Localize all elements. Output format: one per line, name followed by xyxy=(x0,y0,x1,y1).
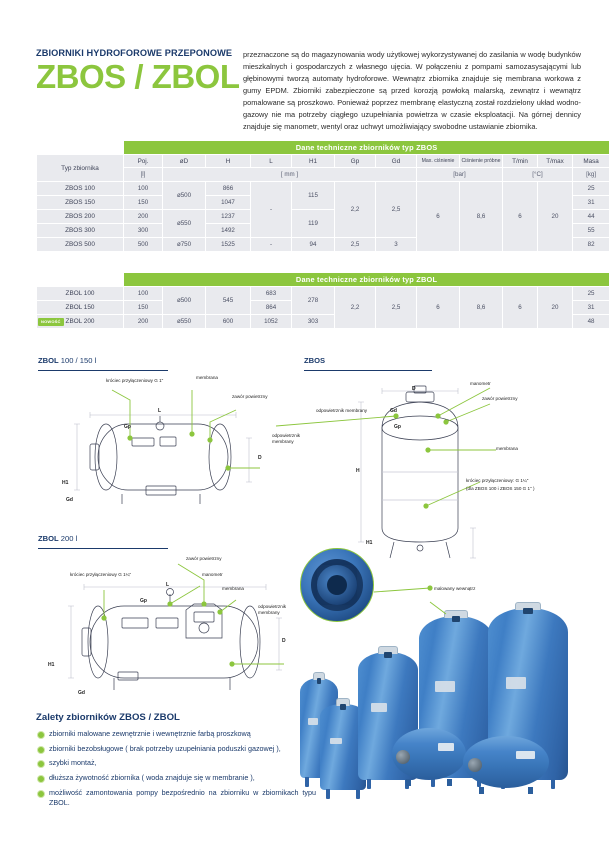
cell-gd: 3 xyxy=(376,238,416,251)
callout-zbol-large-vent: odpowietrznik membrany xyxy=(258,604,298,616)
cell-poj: 300 xyxy=(124,224,162,237)
unit-mm: [ mm ] xyxy=(163,168,416,181)
cell-poj: 200 xyxy=(124,210,162,223)
diagram-rule-zbol-small xyxy=(38,370,168,371)
cell-masa: 31 xyxy=(573,196,609,209)
tank-label-plate xyxy=(506,677,527,689)
callout-zbol-large-gauge: manometr xyxy=(202,572,223,577)
cell-d: ø550 xyxy=(163,210,205,237)
tank-leg xyxy=(367,779,371,789)
table-zbos: Dane techniczne zbiorników typ ZBOS Typ … xyxy=(36,140,610,252)
cell-h1: 115 xyxy=(292,182,334,209)
tank-neck xyxy=(384,652,391,658)
list-item: możliwość zamontowania pompy bezpośredni… xyxy=(36,788,316,808)
dim-zbol-large-l: L xyxy=(166,582,169,588)
product-photo xyxy=(300,600,590,800)
dim-zbol-small-h1: H1 xyxy=(62,480,68,486)
callout-zbol-large-valve: zawór powietrzny xyxy=(186,556,222,561)
unit-bar: [bar] xyxy=(417,168,502,181)
tank-leg xyxy=(447,779,452,786)
table-row: ZBOS 100 100 ø500 866 - 115 2,2 2,5 6 8,… xyxy=(37,182,609,195)
callout-zbol-small-vent: odpowietrznik membrany xyxy=(272,433,312,445)
cell-tmin: 6 xyxy=(503,287,537,328)
cell-ptest: 8,6 xyxy=(460,287,502,328)
cell-l: 683 xyxy=(251,287,291,300)
cell-h: 600 xyxy=(206,315,250,328)
cell-ptest: 8,6 xyxy=(460,182,502,251)
unit-temp: [°C] xyxy=(503,168,572,181)
benefits-title: Zalety zbiorników ZBOS / ZBOL xyxy=(36,712,316,723)
cell-gp: 2,2 xyxy=(335,182,375,237)
header-left: ZBIORNIKI HYDROFOROWE PRZEPONOWE ZBOS / … xyxy=(36,48,241,93)
diagram-rule-zbos xyxy=(304,370,432,371)
cell-d: ø500 xyxy=(163,287,205,314)
list-item: szybki montaż, xyxy=(36,758,316,768)
dim-zbol-small-l: L xyxy=(158,408,161,414)
diagram-title-bold: ZBOL xyxy=(38,534,59,543)
callout-zbol-large-port: króciec przyłączeniowy G 1¼" xyxy=(70,572,131,577)
diagram-title-light: 100 / 150 l xyxy=(59,356,97,365)
header-gp: Gp xyxy=(335,155,375,167)
dim-zbol-large-d: D xyxy=(282,638,286,644)
cell-gd: 2,5 xyxy=(376,287,416,328)
tank-flange xyxy=(468,758,482,772)
dim-zbos-h1: H1 xyxy=(366,540,372,546)
header-tmax: T/max xyxy=(538,155,572,167)
tank-leg xyxy=(479,787,484,794)
dim-zbol-small-gp: Gp xyxy=(124,424,131,430)
tank-neck xyxy=(523,608,533,614)
table-zbos-band-row: Dane techniczne zbiorników typ ZBOS xyxy=(37,141,609,154)
callout-zbos-port: króciec przyłączeniowy: G 1¼" xyxy=(466,478,528,483)
tank-label-plate xyxy=(516,751,535,759)
cell-d: ø500 xyxy=(163,182,205,209)
cell-poj: 500 xyxy=(124,238,162,251)
tank-label-plate xyxy=(371,703,387,712)
dim-zbos-gd: Gd xyxy=(390,408,397,414)
cell-masa: 55 xyxy=(573,224,609,237)
cell-h: 1047 xyxy=(206,196,250,209)
dim-zbol-small-d: D xyxy=(258,455,262,461)
cell-masa: 44 xyxy=(573,210,609,223)
tank-leg xyxy=(356,789,360,799)
cell-d: ø550 xyxy=(163,315,205,328)
tank-horizontal-1 xyxy=(392,728,466,780)
page-kicker: ZBIORNIKI HYDROFOROWE PRZEPONOWE xyxy=(36,48,241,58)
dim-zbol-large-h1: H1 xyxy=(48,662,54,668)
cell-h: 1237 xyxy=(206,210,250,223)
cell-h1: 278 xyxy=(292,287,334,314)
callout-zbol-large-membrane: membrana xyxy=(222,586,244,591)
callout-zbos-port-note: (dla ZBOS 100 i ZBOS 150 G 1" ) xyxy=(466,486,535,491)
cell-h1: 94 xyxy=(292,238,334,251)
inset-detail-circle xyxy=(300,548,374,622)
diagram-title-zbos: ZBOS xyxy=(304,356,325,365)
callout-zbol-small-membrane: membrana xyxy=(196,375,218,380)
diagram-zbos xyxy=(330,382,580,562)
callout-zbol-small-port: króciec przyłączeniowy G 1" xyxy=(106,378,163,383)
cell-masa: 25 xyxy=(573,182,609,195)
cell-h: 545 xyxy=(206,287,250,314)
header-tmin: T/min xyxy=(503,155,537,167)
diagram-zbol-small xyxy=(60,382,310,532)
cell-h: 1492 xyxy=(206,224,250,237)
list-item: dłuższa żywotność zbiornika ( woda znajd… xyxy=(36,773,316,783)
unit-masa: [kg] xyxy=(573,168,609,181)
dim-zbos-d: D xyxy=(412,386,416,392)
cell-l: 864 xyxy=(251,301,291,314)
table-zbol: Dane techniczne zbiorników typ ZBOL ZBOL… xyxy=(36,272,610,329)
header-type: Typ zbiornika xyxy=(37,155,123,181)
cell-type: ZBOL 150 xyxy=(37,301,123,314)
cell-l: - xyxy=(251,182,291,237)
callout-zbol-small-valve: zawór powietrzny xyxy=(232,394,268,399)
tank-label-plate xyxy=(435,681,454,692)
cell-type: ZBOL 100 xyxy=(37,287,123,300)
cell-type: NOWOŚĆ ZBOL 200 xyxy=(37,315,123,328)
tank-neck xyxy=(452,616,461,622)
benefits-list: zbiorniki malowane zewnętrznie i wewnętr… xyxy=(36,729,316,808)
inset-hole xyxy=(327,575,347,595)
cell-poj: 150 xyxy=(124,301,162,314)
cell-type: ZBOS 500 xyxy=(37,238,123,251)
cell-l: 1052 xyxy=(251,315,291,328)
cell-type-label: ZBOL 200 xyxy=(66,318,95,325)
benefits-section: Zalety zbiorników ZBOS / ZBOL zbiorniki … xyxy=(36,712,316,813)
cell-poj: 200 xyxy=(124,315,162,328)
diagram-title-bold: ZBOL xyxy=(38,356,59,365)
inset-leader-lines xyxy=(372,566,492,616)
callout-zbos-membrane: membrana xyxy=(496,446,518,451)
cell-masa: 82 xyxy=(573,238,609,251)
cell-poj: 100 xyxy=(124,287,162,300)
cell-masa: 31 xyxy=(573,301,609,314)
header-ptest: Ciśnienie próbne xyxy=(460,155,502,167)
diagram-title-zbol-small: ZBOL 100 / 150 l xyxy=(38,356,96,365)
list-item: zbiorniki malowane zewnętrznie i wewnętr… xyxy=(36,729,316,739)
table-zbol-band: Dane techniczne zbiorników typ ZBOL xyxy=(124,273,609,286)
header-gd: Gd xyxy=(376,155,416,167)
diagram-rule-zbol-large xyxy=(38,548,168,549)
header-h: H xyxy=(206,155,250,167)
cell-poj: 150 xyxy=(124,196,162,209)
dim-zbol-large-gd: Gd xyxy=(78,690,85,696)
new-badge: NOWOŚĆ xyxy=(38,318,64,326)
cell-masa: 48 xyxy=(573,315,609,328)
cell-poj: 100 xyxy=(124,182,162,195)
callout-zbos-valve: zawór powietrzny xyxy=(482,396,518,401)
diagram-title-bold: ZBOS xyxy=(304,356,325,365)
dim-zbol-large-gp: Gp xyxy=(140,598,147,604)
header-l: L xyxy=(251,155,291,167)
tank-leg xyxy=(528,787,533,794)
diagram-zbol-large xyxy=(60,560,310,720)
dim-zbos-h: H xyxy=(356,468,360,474)
callout-zbos-vent: odpowietrznik membrany xyxy=(316,408,367,413)
cell-gp: 2,5 xyxy=(335,238,375,251)
tank-label-plate xyxy=(330,738,342,744)
table-zbos-header-row-1: Typ zbiornika Poj. øD H L H1 Gp Gd Max. … xyxy=(37,155,609,167)
cell-type: ZBOS 300 xyxy=(37,224,123,237)
table-zbos-band: Dane techniczne zbiorników typ ZBOS xyxy=(124,141,609,154)
dim-zbos-gp: Gp xyxy=(394,424,401,430)
diagram-title-zbol-large: ZBOL 200 l xyxy=(38,534,77,543)
tank-leg xyxy=(326,789,330,799)
cell-pmax: 6 xyxy=(417,287,459,328)
tank-label-plate xyxy=(438,743,454,751)
header-h1: H1 xyxy=(292,155,334,167)
cell-pmax: 6 xyxy=(417,182,459,251)
spacer-cell xyxy=(37,141,123,154)
header-poj: Poj. xyxy=(124,155,162,167)
tank-leg xyxy=(551,779,555,789)
tank-leg xyxy=(406,779,411,786)
table-zbol-band-row: Dane techniczne zbiorników typ ZBOL xyxy=(37,273,609,286)
cell-gp: 2,2 xyxy=(335,287,375,328)
tank-horizontal-2 xyxy=(463,736,549,788)
datasheet-page: ZBIORNIKI HYDROFOROWE PRZEPONOWE ZBOS / … xyxy=(0,0,611,853)
cell-gd: 2,5 xyxy=(376,182,416,237)
product-description: przeznaczone są do magazynowania wody uż… xyxy=(243,49,581,133)
cell-h: 1525 xyxy=(206,238,250,251)
page-title: ZBOS / ZBOL xyxy=(36,60,241,93)
cell-tmax: 20 xyxy=(538,287,572,328)
cell-h1: 303 xyxy=(292,315,334,328)
header-masa: Masa xyxy=(573,155,609,167)
header-d: øD xyxy=(163,155,205,167)
spacer-cell xyxy=(37,273,123,286)
tank-neck xyxy=(317,678,322,684)
cell-type: ZBOS 200 xyxy=(37,210,123,223)
table-zbos-wrapper: Dane techniczne zbiorników typ ZBOS Typ … xyxy=(36,140,581,252)
list-item: zbiorniki bezobsługowe ( brak potrzeby u… xyxy=(36,744,316,754)
callout-zbos-gauge: manometr xyxy=(470,381,491,386)
diagram-title-light: 200 l xyxy=(59,534,78,543)
header-pmax: Max. ciśnienie xyxy=(417,155,459,167)
tank-neck xyxy=(340,704,346,710)
table-zbol-wrapper: Dane techniczne zbiorników typ ZBOL ZBOL… xyxy=(36,272,581,329)
cell-tmax: 20 xyxy=(538,182,572,251)
cell-type: ZBOS 100 xyxy=(37,182,123,195)
dim-zbol-small-gd: Gd xyxy=(66,497,73,503)
cell-masa: 25 xyxy=(573,287,609,300)
cell-type: ZBOS 150 xyxy=(37,196,123,209)
cell-h: 866 xyxy=(206,182,250,195)
cell-h1: 119 xyxy=(292,210,334,237)
callout-inset-painted-inside: malowany wewnątrz xyxy=(434,586,475,591)
cell-tmin: 6 xyxy=(503,182,537,251)
unit-poj: [l] xyxy=(124,168,162,181)
cell-l: - xyxy=(251,238,291,251)
table-row: ZBOL 100 100 ø500 545 683 278 2,2 2,5 6 … xyxy=(37,287,609,300)
cell-d: ø750 xyxy=(163,238,205,251)
